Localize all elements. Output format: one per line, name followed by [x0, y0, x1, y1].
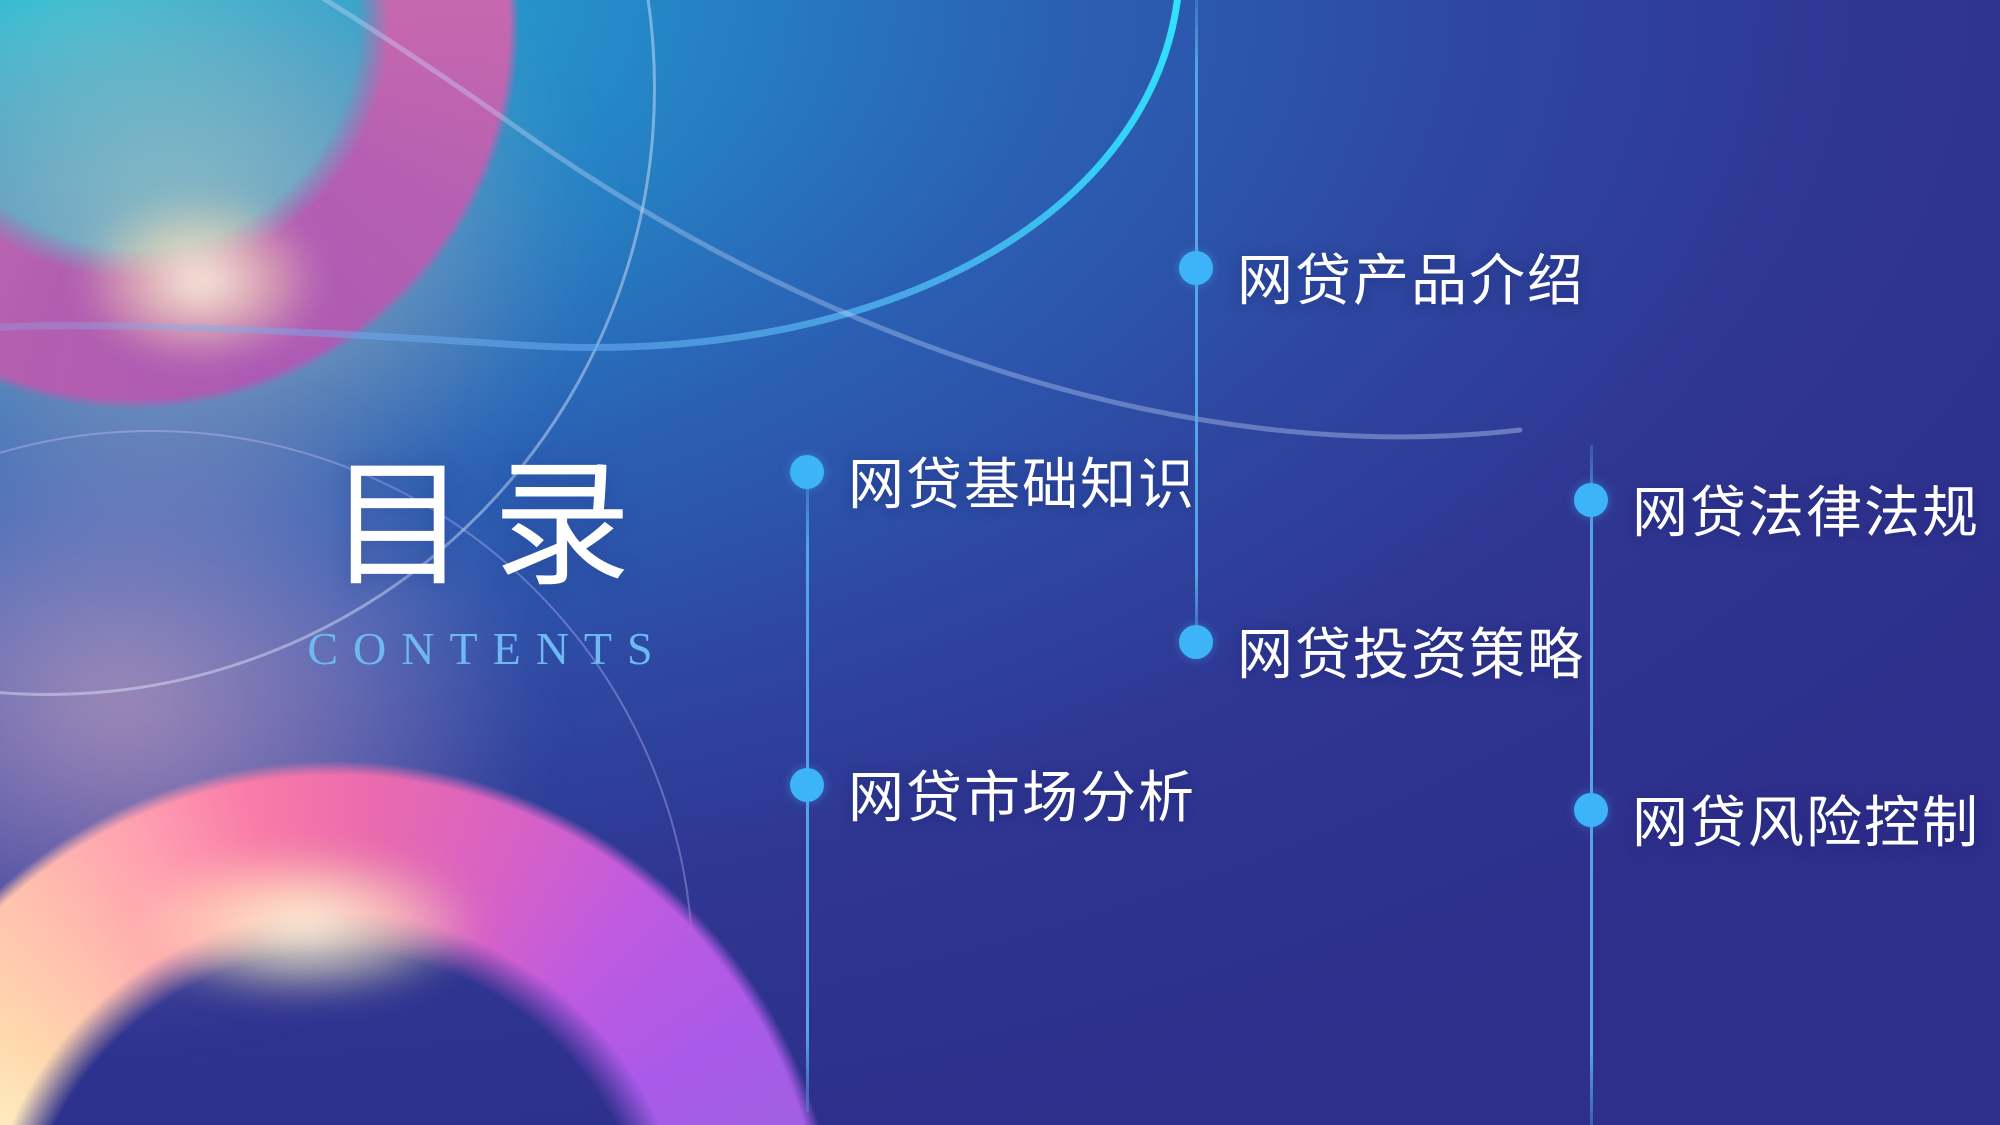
- bullet-dot-icon[interactable]: [1179, 251, 1213, 285]
- bullet-dot-icon[interactable]: [1574, 483, 1608, 517]
- ring-top-left-highlight: [35, 165, 365, 395]
- ring-top-left-inner-glow: [0, 0, 300, 190]
- glow-wash-bottom-left: [0, 300, 780, 1125]
- contents-item-label-5[interactable]: 网贷法律法规: [1632, 468, 1980, 549]
- title-block: 目录 CONTENTS: [220, 455, 740, 675]
- slide-canvas: 目录 CONTENTS 网贷基础知识 网贷市场分析 网贷产品介绍 网贷投资策略: [0, 0, 2000, 1125]
- ring-bottom-left-highlight: [90, 830, 520, 1020]
- connector-line-2: [1195, 0, 1198, 650]
- bullet-dot-icon[interactable]: [790, 768, 824, 802]
- page-subtitle: CONTENTS: [235, 622, 740, 675]
- bullet-dot-icon[interactable]: [1574, 793, 1608, 827]
- contents-item-label-3[interactable]: 网贷产品介绍: [1237, 236, 1585, 317]
- connector-line-3: [1590, 445, 1593, 1125]
- bullet-dot-icon[interactable]: [1179, 625, 1213, 659]
- ring-top-left-icon: [0, 0, 520, 410]
- contents-item-label-6[interactable]: 网贷风险控制: [1632, 778, 1980, 859]
- contents-item-label-4[interactable]: 网贷投资策略: [1237, 610, 1585, 691]
- contents-item-label-1[interactable]: 网贷基础知识: [848, 440, 1196, 521]
- bullet-dot-icon[interactable]: [790, 455, 824, 489]
- ring-bottom-left-icon: [0, 760, 840, 1125]
- page-title: 目录: [246, 455, 740, 600]
- contents-item-label-2[interactable]: 网贷市场分析: [848, 753, 1196, 834]
